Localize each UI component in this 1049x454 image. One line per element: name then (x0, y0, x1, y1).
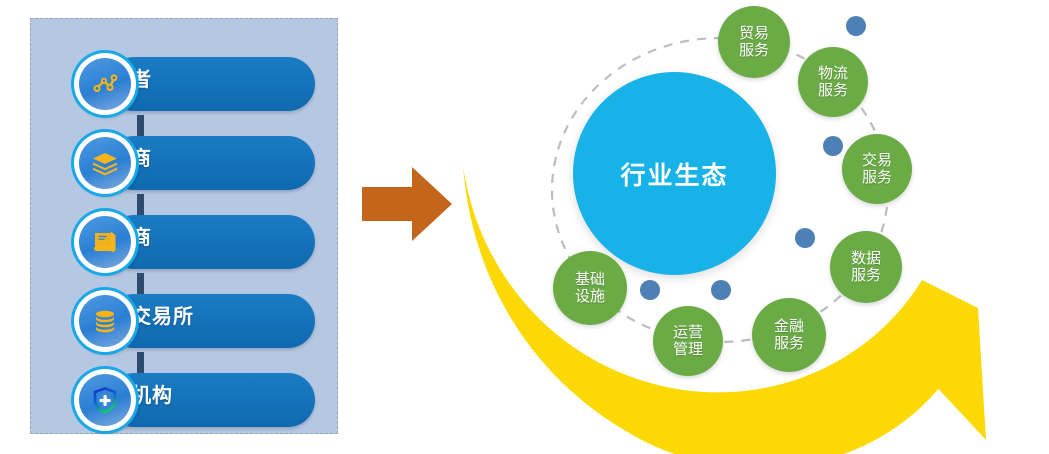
shield-plus-icon (79, 374, 131, 426)
eco-node-label-line1: 物流 (818, 65, 848, 82)
participant-badge (74, 369, 136, 431)
eco-accent-dot (795, 228, 815, 248)
participant-row-service-provider[interactable]: 服务商 (31, 211, 337, 273)
eco-node-label-line2: 服务 (739, 42, 769, 59)
eco-node-label-line2: 设施 (575, 288, 605, 305)
participant-badge (74, 132, 136, 194)
eco-accent-dot (846, 16, 866, 36)
eco-node-financial-service[interactable]: 金融 服务 (752, 298, 826, 372)
database-coins-icon (79, 295, 131, 347)
participant-badge (74, 211, 136, 273)
participant-row-exchange[interactable]: 产业交易所 (31, 290, 337, 352)
eco-node-label-line1: 运营 (673, 324, 703, 341)
eco-accent-dot (640, 280, 660, 300)
industry-ecosystem-diagram: 行业生态 贸易 服务 物流 服务 交易 服务 数据 服务 (430, 0, 1049, 454)
slide-canvas: 消费者 (0, 0, 1049, 454)
participant-row-supplier[interactable]: 供应商 (31, 132, 337, 194)
participant-badge (74, 53, 136, 115)
network-nodes-icon (79, 58, 131, 110)
eco-node-label-line2: 服务 (862, 169, 892, 186)
eco-accent-dot (823, 136, 843, 156)
eco-node-label-line2: 服务 (774, 335, 804, 352)
eco-node-operations-management[interactable]: 运营 管理 (653, 306, 723, 376)
participant-row-consumer[interactable]: 消费者 (31, 53, 337, 115)
book-folder-icon (79, 216, 131, 268)
eco-node-infrastructure[interactable]: 基础 设施 (553, 251, 627, 325)
eco-node-label-line1: 基础 (575, 271, 605, 288)
industry-participants-panel: 消费者 (30, 18, 338, 434)
eco-node-trade-service[interactable]: 贸易 服务 (718, 6, 790, 78)
eco-node-label-line2: 服务 (818, 82, 848, 99)
eco-node-transaction-service[interactable]: 交易 服务 (842, 134, 912, 204)
eco-node-data-service[interactable]: 数据 服务 (830, 231, 902, 303)
eco-node-label-line1: 交易 (862, 152, 892, 169)
ecosystem-core-label: 行业生态 (620, 156, 728, 192)
participant-badge (74, 290, 136, 352)
eco-node-label-line2: 管理 (673, 341, 703, 358)
participant-row-regulator[interactable]: 监管机构 (31, 369, 337, 431)
eco-node-label-line2: 服务 (851, 267, 881, 284)
layers-stack-icon (79, 137, 131, 189)
eco-accent-dot (711, 280, 731, 300)
eco-node-logistics-service[interactable]: 物流 服务 (798, 47, 868, 117)
ecosystem-core-circle[interactable]: 行业生态 (573, 72, 776, 275)
eco-node-label-line1: 贸易 (739, 25, 769, 42)
eco-node-label-line1: 金融 (774, 318, 804, 335)
eco-node-label-line1: 数据 (851, 250, 881, 267)
